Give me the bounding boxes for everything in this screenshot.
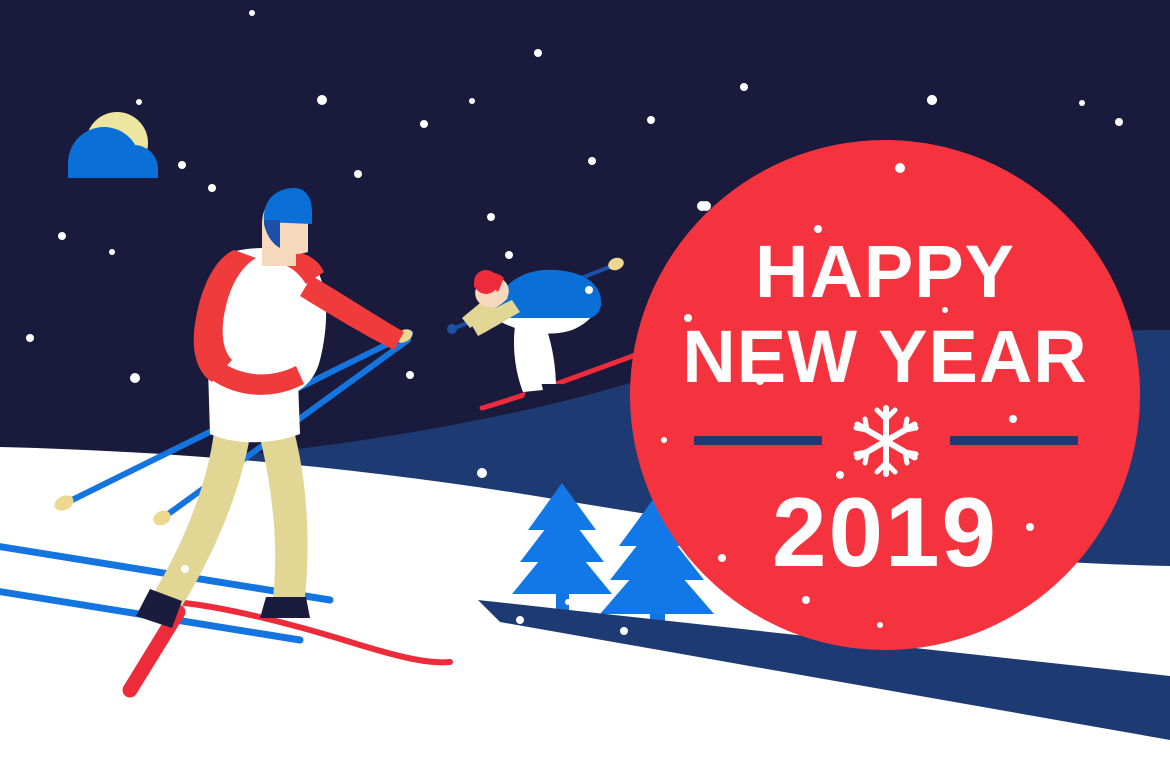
snowflake-dot (534, 49, 542, 57)
snowflake-dot (420, 120, 428, 128)
illustration-canvas: HAPPY NEW YEAR (0, 0, 1170, 780)
snowflake-dot (26, 334, 34, 342)
snowflake-dot (109, 249, 115, 255)
snowflake-dot (363, 568, 371, 576)
snowflake-dot (317, 95, 327, 105)
snowflake-dot (208, 184, 216, 192)
snowflake-dot (1115, 118, 1123, 126)
divider-line-left (694, 436, 822, 445)
snowflake-dot (58, 232, 66, 240)
pole-tip-back (447, 324, 457, 334)
snowflake-dot (708, 692, 716, 700)
scene-svg: HAPPY NEW YEAR (0, 0, 1170, 780)
snowflake-dot (505, 251, 513, 259)
snowflake-dot (249, 10, 255, 16)
snowflake-dot (516, 616, 524, 624)
badge-line-1: HAPPY (755, 230, 1015, 313)
snowflake-dot (588, 157, 596, 165)
snowflake-dot (1079, 100, 1085, 106)
snowflake-dot (565, 599, 571, 605)
boot-front-front-skier (260, 597, 310, 618)
snowflake-dot (740, 83, 748, 91)
divider-line-right (950, 436, 1078, 445)
hat-crown-back-skier (474, 270, 498, 294)
snowflake-dot (927, 95, 937, 105)
snowflake-dot (697, 201, 707, 211)
snowflake-dot (136, 99, 142, 105)
snowflake-dot (647, 116, 655, 124)
snowflake-dot (130, 373, 140, 383)
snowflake-dot (585, 286, 593, 294)
snowflake-dot (406, 371, 414, 379)
snowflake-dot (24, 462, 34, 472)
snowflake-dot (469, 98, 475, 104)
badge-year: 2019 (772, 477, 998, 587)
snowflake-dot (178, 161, 186, 169)
snowflake-dot (477, 468, 487, 478)
badge-line-2: NEW YEAR (682, 315, 1087, 398)
snowflake-dot (620, 627, 628, 635)
snowflake-dot (181, 565, 189, 573)
snowflake-dot (354, 170, 362, 178)
snowflake-dot (487, 213, 495, 221)
